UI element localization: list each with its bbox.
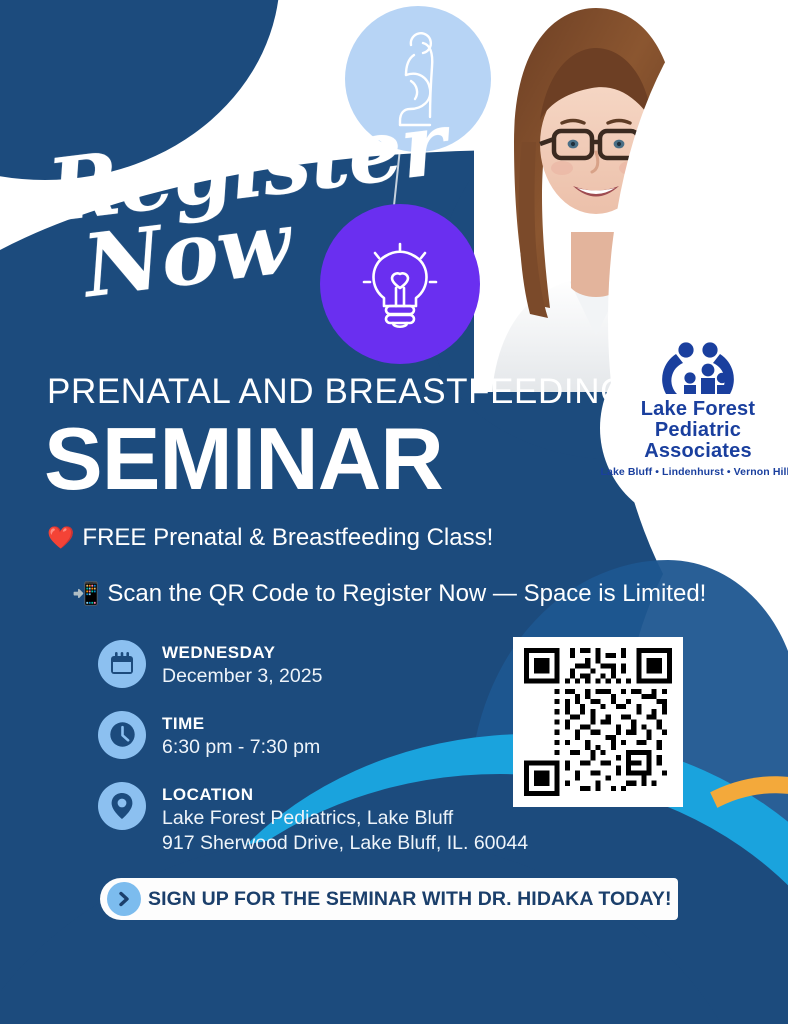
event-details: WEDNESDAY December 3, 2025 TIME 6:30 pm …: [98, 640, 528, 856]
detail-value-time: 6:30 pm - 7:30 pm: [162, 736, 320, 760]
detail-label-location: LOCATION: [162, 785, 528, 805]
bullet-free-class-label: FREE Prenatal & Breastfeeding Class!: [82, 524, 493, 552]
family-icon: [652, 342, 744, 394]
practice-logo-badge: Lake Forest Pediatric Associates Lake Bl…: [600, 330, 788, 526]
detail-text-time: TIME 6:30 pm - 7:30 pm: [162, 711, 320, 760]
heart-icon: ❤️: [47, 527, 74, 549]
flyer-poster: Lake Forest Pediatric Associates Lake Bl…: [0, 0, 788, 1024]
detail-row-date: WEDNESDAY December 3, 2025: [98, 640, 528, 689]
seminar-kicker: PRENATAL AND BREASTFEEDING: [47, 372, 628, 412]
page-title: SEMINAR: [44, 415, 443, 503]
clock-icon: [98, 711, 146, 759]
detail-text-location: LOCATION Lake Forest Pediatrics, Lake Bl…: [162, 782, 528, 857]
mobile-phone-with-arrow-icon: 📲: [72, 583, 99, 605]
logo-name: Lake Forest Pediatric Associates: [600, 399, 788, 462]
signup-cta-label: SIGN UP FOR THE SEMINAR WITH DR. HIDAKA …: [148, 888, 672, 911]
bullet-scan-qr: 📲 Scan the QR Code to Register Now — Spa…: [72, 580, 706, 608]
detail-text-date: WEDNESDAY December 3, 2025: [162, 640, 322, 689]
detail-label-date: WEDNESDAY: [162, 643, 322, 663]
signup-cta-button[interactable]: SIGN UP FOR THE SEMINAR WITH DR. HIDAKA …: [100, 878, 678, 920]
map-pin-icon: [98, 782, 146, 830]
qr-code-icon[interactable]: [513, 637, 683, 807]
detail-value-date: December 3, 2025: [162, 665, 322, 689]
detail-value-location-1: Lake Forest Pediatrics, Lake Bluff: [162, 807, 528, 831]
detail-value-location-2: 917 Sherwood Drive, Lake Bluff, IL. 6004…: [162, 832, 528, 856]
chevron-right-icon: [107, 882, 141, 916]
bullet-scan-qr-label: Scan the QR Code to Register Now — Space…: [107, 580, 706, 608]
calendar-icon: [98, 640, 146, 688]
detail-row-location: LOCATION Lake Forest Pediatrics, Lake Bl…: [98, 782, 528, 857]
detail-label-time: TIME: [162, 714, 320, 734]
logo-locations: Lake Bluff • Lindenhurst • Vernon Hills: [600, 466, 788, 478]
detail-row-time: TIME 6:30 pm - 7:30 pm: [98, 711, 528, 760]
bullet-free-class: ❤️ FREE Prenatal & Breastfeeding Class!: [47, 524, 493, 552]
